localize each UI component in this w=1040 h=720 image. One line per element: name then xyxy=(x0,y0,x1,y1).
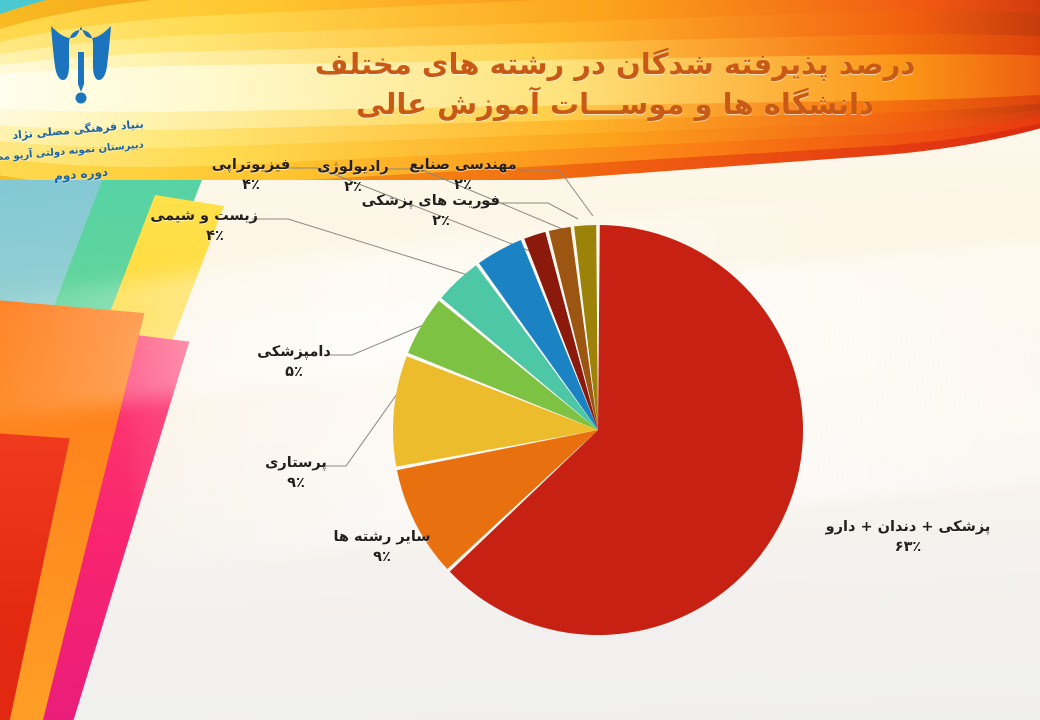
slice-label-percent: ۲٪ xyxy=(316,178,390,198)
slice-label-medicine-dentistry-pharmacy: پزشکی + دندان + دارو ۶۳٪ xyxy=(818,518,998,557)
slice-label-radiology: رادیولوژی ۲٪ xyxy=(316,158,390,197)
slice-label-percent: ۹٪ xyxy=(262,474,330,494)
pie-slices xyxy=(393,225,803,635)
slice-label-percent: ۴٪ xyxy=(210,176,292,196)
leader-line-nursing xyxy=(320,384,404,466)
slice-label-percent: ۹٪ xyxy=(330,548,434,568)
slice-label-name: پرستاری xyxy=(262,454,330,474)
pie-chart-svg xyxy=(0,0,1040,720)
slice-label-percent: ۲٪ xyxy=(382,212,500,232)
leader-line-industrial-eng xyxy=(519,171,593,216)
slice-label-name: دامپزشکی xyxy=(256,343,332,363)
slice-label-veterinary: دامپزشکی ۵٪ xyxy=(256,343,332,382)
slide-canvas: بنیاد فرهنگی مصلی نژاد دبیرستان نمونه دو… xyxy=(0,0,1040,720)
slice-label-percent: ۶۳٪ xyxy=(818,538,998,558)
slice-label-industrial-engineering: مهندسی صنایع ۲٪ xyxy=(404,156,522,195)
slice-label-name: فوریت های پزشکی xyxy=(382,192,500,212)
slice-label-name: زیست و شیمی xyxy=(172,207,258,227)
slice-label-percent: ۴٪ xyxy=(172,227,258,247)
slice-label-name: رادیولوژی xyxy=(316,158,390,178)
slice-label-name: سایر رشته ها xyxy=(330,528,434,548)
slice-label-medical-emergency: فوریت های پزشکی ۲٪ xyxy=(382,192,500,231)
pie-chart: مهندسی صنایع ۲٪ فوریت های پزشکی ۲٪ رادیو… xyxy=(0,0,1040,720)
slice-label-physiotherapy: فیزیوتراپی ۴٪ xyxy=(210,156,292,195)
slice-label-name: فیزیوتراپی xyxy=(210,156,292,176)
slice-label-name: پزشکی + دندان + دارو xyxy=(818,518,998,538)
slice-label-percent: ۵٪ xyxy=(256,363,332,383)
slice-label-name: مهندسی صنایع xyxy=(404,156,522,176)
slice-label-nursing: پرستاری ۹٪ xyxy=(262,454,330,493)
slice-label-biology-chemistry: زیست و شیمی ۴٪ xyxy=(172,207,258,246)
slice-label-other-fields: سایر رشته ها ۹٪ xyxy=(330,528,434,567)
